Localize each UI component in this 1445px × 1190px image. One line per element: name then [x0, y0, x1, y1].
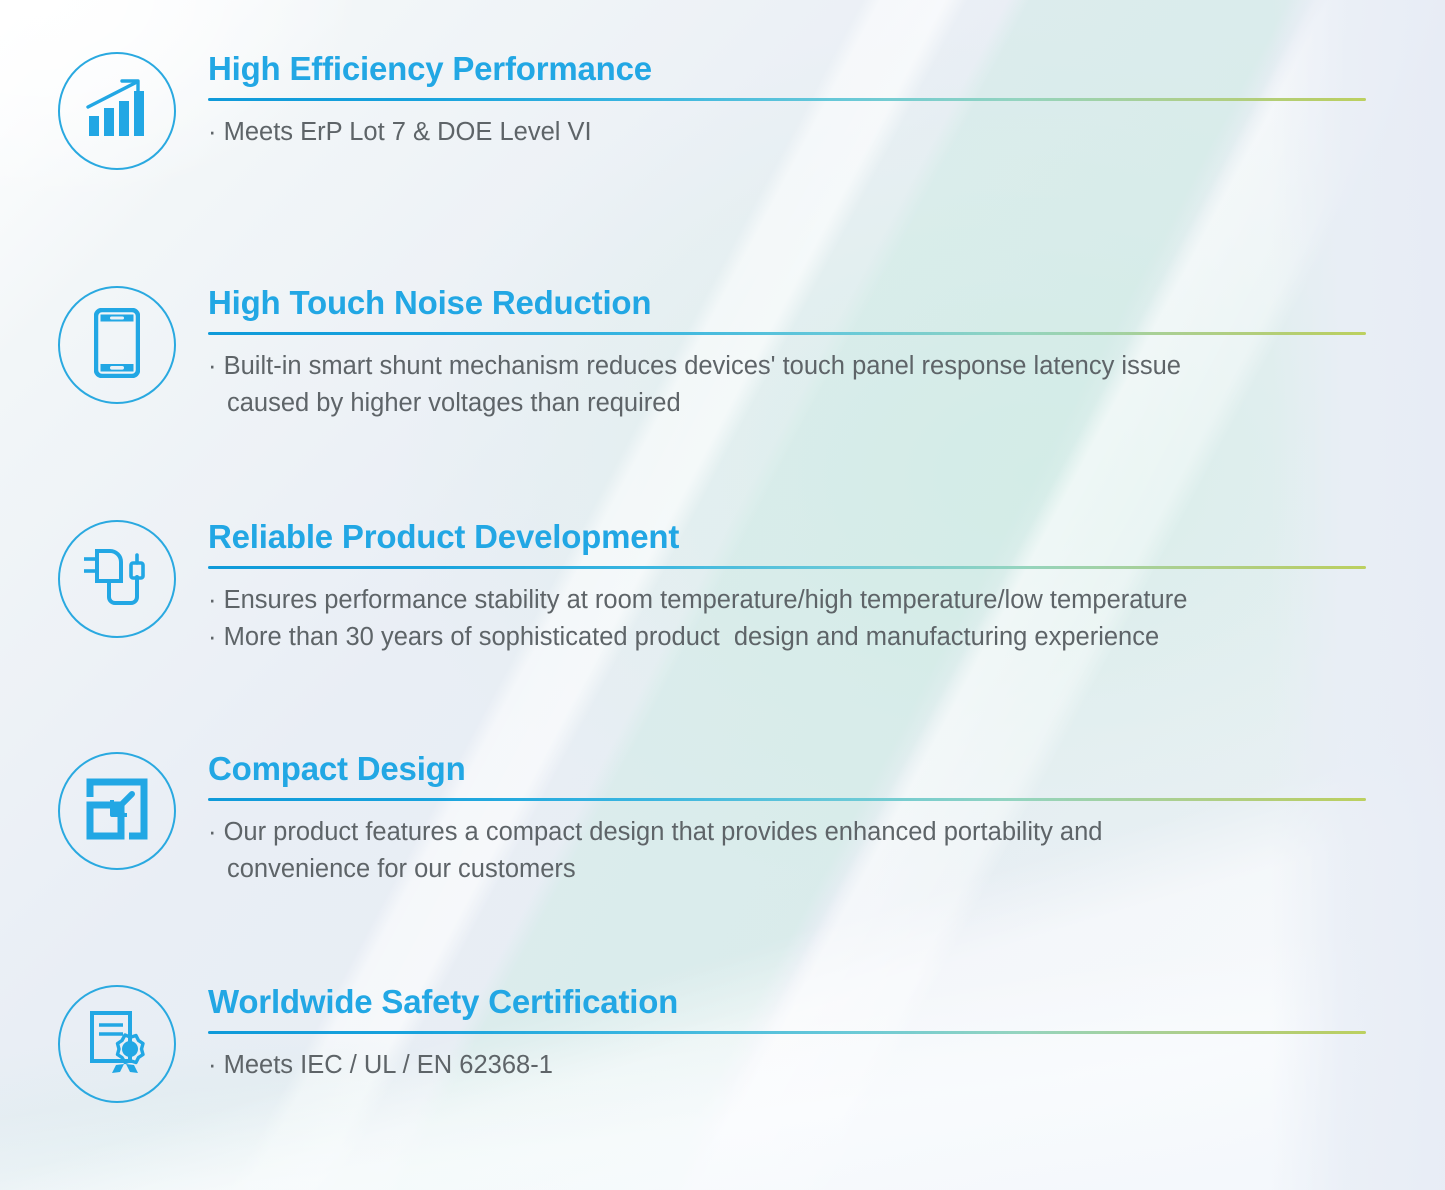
power-adapter-icon — [79, 545, 155, 614]
feature-body-high-efficiency-performance: High Efficiency Performance · Meets ErP … — [208, 52, 1366, 151]
icon-circle — [58, 985, 176, 1103]
feature-body-compact-design: Compact Design · Our product features a … — [208, 752, 1366, 888]
feature-highlights-page: High Efficiency Performance · Meets ErP … — [0, 0, 1445, 1190]
bullet-marker: · — [208, 623, 217, 651]
feature-icon-high-touch-noise-reduction — [56, 284, 178, 406]
feature-title: Reliable Product Development — [208, 520, 1366, 555]
feature-bullets: · Meets ErP Lot 7 & DOE Level VI — [208, 114, 1366, 151]
feature-body-reliable-product-development: Reliable Product Development · Ensures p… — [208, 520, 1366, 656]
feature-body-high-touch-noise-reduction: High Touch Noise Reduction · Built-in sm… — [208, 286, 1366, 422]
icon-circle — [58, 52, 176, 170]
feature-divider — [208, 566, 1366, 569]
bullet-text: More than 30 years of sophisticated prod… — [224, 623, 1160, 651]
bullet-line-continuation: convenience for our customers — [208, 851, 1366, 888]
bullet-text: Built-in smart shunt mechanism reduces d… — [224, 352, 1181, 380]
feature-bullets: · Ensures performance stability at room … — [208, 582, 1366, 656]
bullet-text: Meets IEC / UL / EN 62368-1 — [224, 1051, 553, 1079]
feature-icon-compact-design — [56, 750, 178, 872]
bullet-marker: · — [208, 352, 217, 380]
feature-icon-high-efficiency-performance — [56, 50, 178, 172]
bullet-marker: · — [208, 1051, 217, 1079]
bullet-text: Our product features a compact design th… — [224, 818, 1103, 846]
bullet-marker: · — [208, 586, 217, 614]
bullet-marker: · — [208, 818, 217, 846]
feature-icon-worldwide-safety-certification — [56, 983, 178, 1105]
bullet-line: · Built-in smart shunt mechanism reduces… — [208, 348, 1366, 385]
feature-divider — [208, 98, 1366, 101]
bar-chart-growth-icon — [85, 78, 149, 145]
feature-body-worldwide-safety-certification: Worldwide Safety Certification · Meets I… — [208, 985, 1366, 1084]
feature-bullets: · Meets IEC / UL / EN 62368-1 — [208, 1047, 1366, 1084]
bullet-text: Meets ErP Lot 7 & DOE Level VI — [224, 118, 592, 146]
icon-circle — [58, 752, 176, 870]
smartphone-icon — [94, 308, 140, 383]
feature-title: Worldwide Safety Certification — [208, 985, 1366, 1020]
bullet-line: · Ensures performance stability at room … — [208, 582, 1366, 619]
certificate-seal-icon — [86, 1009, 148, 1080]
bullet-line: · Meets IEC / UL / EN 62368-1 — [208, 1047, 1366, 1084]
bullet-text: Ensures performance stability at room te… — [224, 586, 1188, 614]
bullet-line: · More than 30 years of sophisticated pr… — [208, 619, 1366, 656]
icon-circle — [58, 520, 176, 638]
feature-title: High Efficiency Performance — [208, 52, 1366, 87]
feature-bullets: · Built-in smart shunt mechanism reduces… — [208, 348, 1366, 422]
bullet-line: · Meets ErP Lot 7 & DOE Level VI — [208, 114, 1366, 151]
feature-icon-reliable-product-development — [56, 518, 178, 640]
bullet-line-continuation: caused by higher voltages than required — [208, 385, 1366, 422]
feature-divider — [208, 332, 1366, 335]
bullet-marker: · — [208, 118, 217, 146]
feature-title: Compact Design — [208, 752, 1366, 787]
feature-divider — [208, 798, 1366, 801]
icon-circle — [58, 286, 176, 404]
bullet-line: · Our product features a compact design … — [208, 814, 1366, 851]
feature-divider — [208, 1031, 1366, 1034]
compact-resize-icon — [85, 777, 149, 846]
feature-bullets: · Our product features a compact design … — [208, 814, 1366, 888]
feature-title: High Touch Noise Reduction — [208, 286, 1366, 321]
